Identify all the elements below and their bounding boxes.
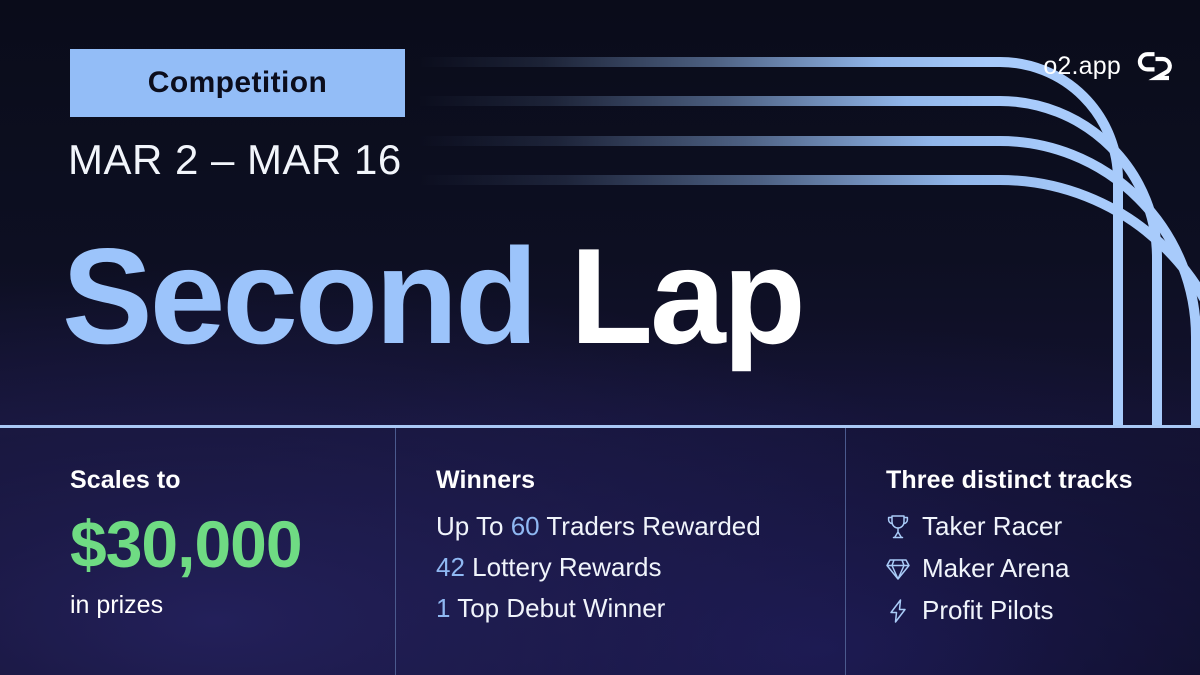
- track-label: Profit Pilots: [922, 595, 1054, 626]
- winner-row-suffix: Traders Rewarded: [540, 511, 761, 541]
- winner-row-count: 1: [436, 593, 450, 623]
- o2-link-logo-icon: [1136, 50, 1174, 82]
- prize-subtext: in prizes: [70, 591, 395, 620]
- track-label: Maker Arena: [922, 553, 1069, 584]
- winner-row-suffix: Top Debut Winner: [450, 593, 665, 623]
- list-item: Taker Racer: [886, 511, 1200, 542]
- diamond-icon: [886, 556, 910, 582]
- tracks-list: Taker Racer Maker Arena Profit Pilots: [886, 511, 1200, 626]
- track-label: Taker Racer: [922, 511, 1062, 542]
- page-title: Second Lap: [62, 228, 803, 364]
- winners-list: Up To 60 Traders Rewarded 42 Lottery Rew…: [436, 511, 845, 624]
- competition-badge: Competition: [70, 49, 405, 117]
- list-item: Profit Pilots: [886, 595, 1200, 626]
- title-part-two: Lap: [570, 220, 803, 372]
- list-item: Maker Arena: [886, 553, 1200, 584]
- competition-badge-label: Competition: [148, 66, 327, 100]
- brand-logo-text: o2.app: [1043, 52, 1121, 81]
- list-item: Up To 60 Traders Rewarded: [436, 511, 845, 542]
- winner-row-count: 60: [511, 511, 540, 541]
- title-part-one: Second: [62, 220, 535, 372]
- winner-row-count: 42: [436, 552, 465, 582]
- panel-winners: Winners Up To 60 Traders Rewarded 42 Lot…: [395, 428, 845, 675]
- panel-tracks: Three distinct tracks Taker Racer Maker …: [845, 428, 1200, 675]
- prizes-heading: Scales to: [70, 466, 395, 495]
- lightning-bolt-icon: [886, 598, 910, 624]
- winners-heading: Winners: [436, 466, 845, 495]
- brand-logo: o2.app: [1043, 50, 1174, 82]
- winner-row-suffix: Lottery Rewards: [465, 552, 662, 582]
- tracks-heading: Three distinct tracks: [886, 466, 1200, 495]
- trophy-icon: [886, 514, 910, 540]
- prize-amount: $30,000: [70, 511, 395, 577]
- winner-row-prefix: Up To: [436, 511, 511, 541]
- list-item: 1 Top Debut Winner: [436, 593, 845, 624]
- info-strip: Scales to $30,000 in prizes Winners Up T…: [0, 425, 1200, 675]
- hero-section: Competition MAR 2 – MAR 16 Second Lap o2…: [0, 0, 1200, 425]
- list-item: 42 Lottery Rewards: [436, 552, 845, 583]
- promo-banner: Competition MAR 2 – MAR 16 Second Lap o2…: [0, 0, 1200, 675]
- panel-prizes: Scales to $30,000 in prizes: [0, 428, 395, 675]
- date-range: MAR 2 – MAR 16: [68, 136, 402, 184]
